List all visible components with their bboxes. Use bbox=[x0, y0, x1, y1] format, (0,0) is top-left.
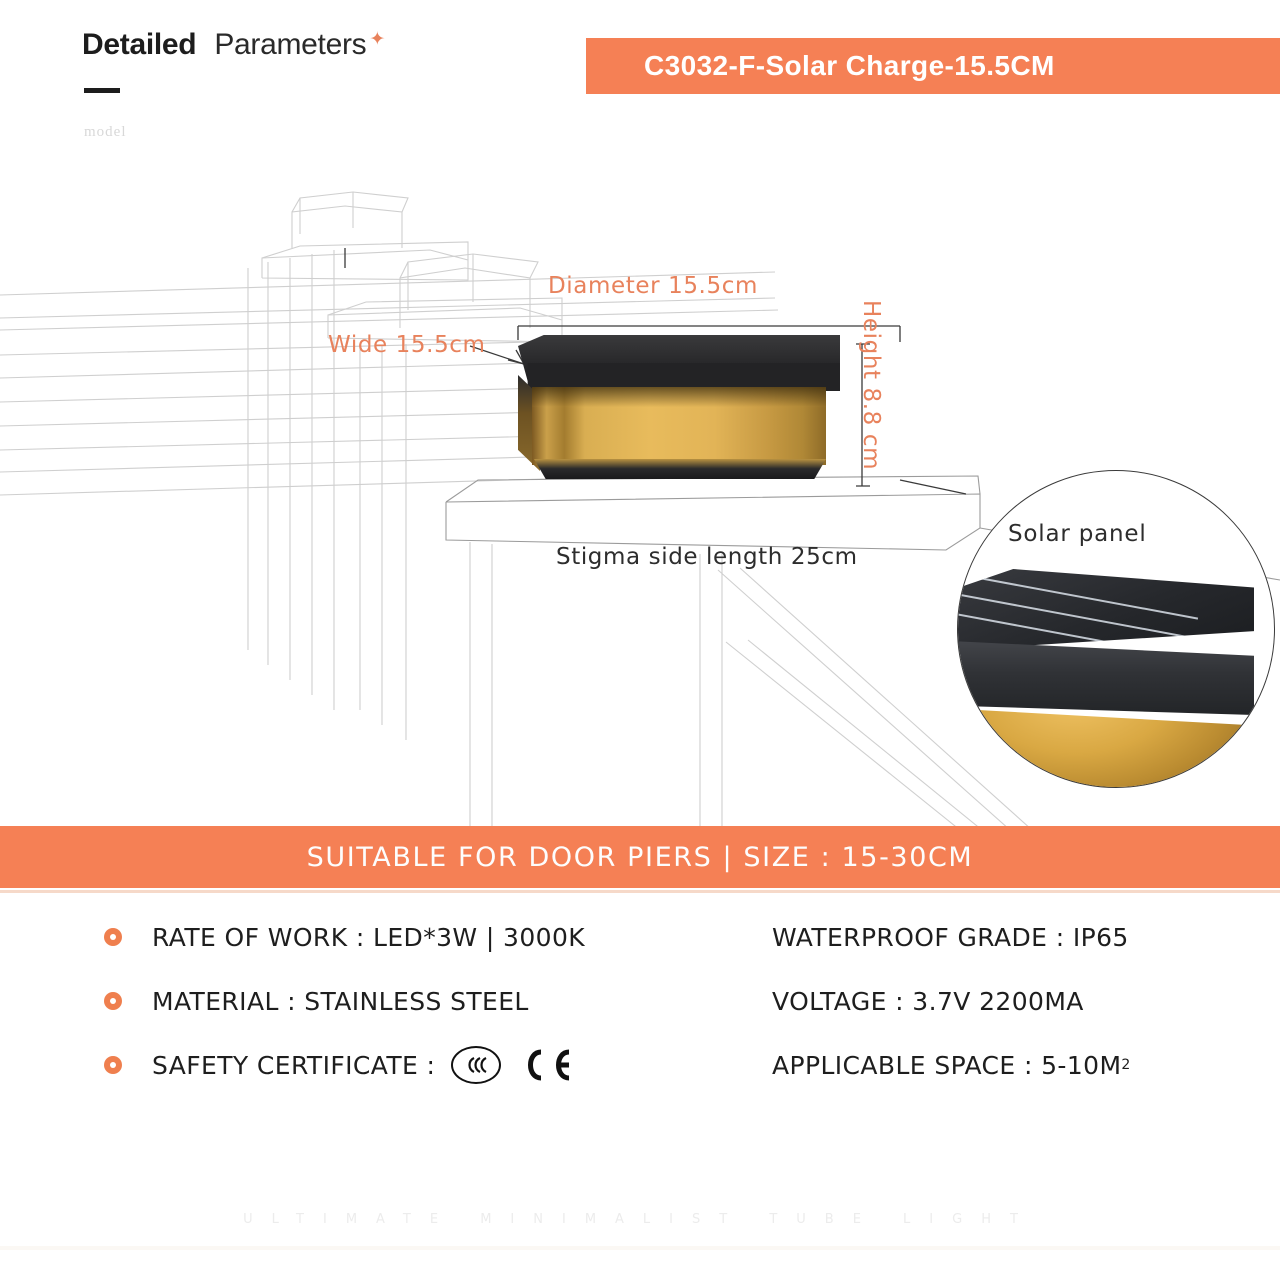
page-title: Detailed Parameters ✦ bbox=[82, 28, 385, 62]
lamp-body-shadow bbox=[532, 387, 826, 407]
spec-row-voltage: VOLTAGE : 3.7V 2200MA bbox=[772, 969, 1131, 1033]
spec-label-voltage: VOLTAGE : 3.7V 2200MA bbox=[772, 987, 1084, 1016]
label-height: Height 8.8 cm bbox=[858, 300, 884, 470]
ce-certificate-icon bbox=[517, 1047, 575, 1083]
bullet-icon bbox=[104, 928, 122, 946]
suitable-banner: SUITABLE FOR DOOR PIERS | SIZE : 15-30CM bbox=[0, 826, 1280, 888]
label-wide: Wide 15.5cm bbox=[328, 332, 486, 358]
model-banner: C3032-F-Solar Charge-15.5CM bbox=[586, 38, 1280, 94]
spec-row-waterproof-grade: WATERPROOF GRADE : IP65 bbox=[772, 905, 1131, 969]
spec-row-safety-certificate: SAFETY CERTIFICATE : bbox=[104, 1033, 585, 1097]
label-stigma-side-length: Stigma side length 25cm bbox=[556, 544, 858, 570]
certificate-icons bbox=[451, 1046, 575, 1084]
spec-applicable-space-superscript: 2 bbox=[1121, 1057, 1130, 1073]
solar-panel-surface bbox=[957, 569, 1254, 653]
spec-label-applicable-space: APPLICABLE SPACE : 5-10M bbox=[772, 1051, 1121, 1080]
model-banner-text: C3032-F-Solar Charge-15.5CM bbox=[644, 50, 1055, 82]
spec-row-applicable-space: APPLICABLE SPACE : 5-10M 2 bbox=[772, 1033, 1131, 1097]
bullet-icon bbox=[104, 1056, 122, 1074]
spec-label-material: MATERIAL : STAINLESS STEEL bbox=[152, 987, 529, 1016]
spec-label-rate-of-work: RATE OF WORK : LED*3W | 3000K bbox=[152, 923, 585, 952]
product-lamp-image bbox=[518, 335, 840, 485]
spec-column-left: RATE OF WORK : LED*3W | 3000K MATERIAL :… bbox=[104, 905, 585, 1097]
solar-panel-body bbox=[957, 639, 1254, 715]
suitable-banner-text: SUITABLE FOR DOOR PIERS | SIZE : 15-30CM bbox=[307, 842, 974, 873]
solar-panel-callout: Solar panel bbox=[957, 470, 1275, 788]
spec-row-rate-of-work: RATE OF WORK : LED*3W | 3000K bbox=[104, 905, 585, 969]
banner-underline bbox=[0, 890, 1280, 893]
header: Detailed Parameters ✦ model C3032-F-Sola… bbox=[0, 0, 1280, 170]
title-bold-word: Detailed bbox=[82, 28, 196, 62]
star-icon: ✦ bbox=[369, 30, 385, 49]
footer-tagline: ULTIMATE MINIMALIST TUBE LIGHT bbox=[0, 1212, 1280, 1227]
spec-label-safety-certificate: SAFETY CERTIFICATE : bbox=[152, 1051, 435, 1080]
title-light-word: Parameters bbox=[214, 28, 366, 62]
specifications: RATE OF WORK : LED*3W | 3000K MATERIAL :… bbox=[0, 905, 1280, 1145]
model-caption: model bbox=[84, 124, 127, 141]
footer-bar bbox=[0, 1246, 1280, 1250]
spec-column-right: WATERPROOF GRADE : IP65 VOLTAGE : 3.7V 2… bbox=[772, 905, 1131, 1097]
title-underline-rule bbox=[84, 88, 120, 93]
panel-stripe-icon bbox=[957, 572, 1198, 619]
callout-label: Solar panel bbox=[1008, 521, 1147, 547]
ccc-certificate-icon bbox=[451, 1046, 501, 1084]
spec-row-material: MATERIAL : STAINLESS STEEL bbox=[104, 969, 585, 1033]
bullet-icon bbox=[104, 992, 122, 1010]
spec-label-waterproof-grade: WATERPROOF GRADE : IP65 bbox=[772, 923, 1129, 952]
product-diagram: Diameter 15.5cm Wide 15.5cm Height 8.8 c… bbox=[0, 150, 1280, 830]
lamp-base bbox=[534, 459, 826, 479]
title-row: Detailed Parameters ✦ bbox=[82, 28, 385, 62]
label-diameter: Diameter 15.5cm bbox=[548, 273, 758, 299]
